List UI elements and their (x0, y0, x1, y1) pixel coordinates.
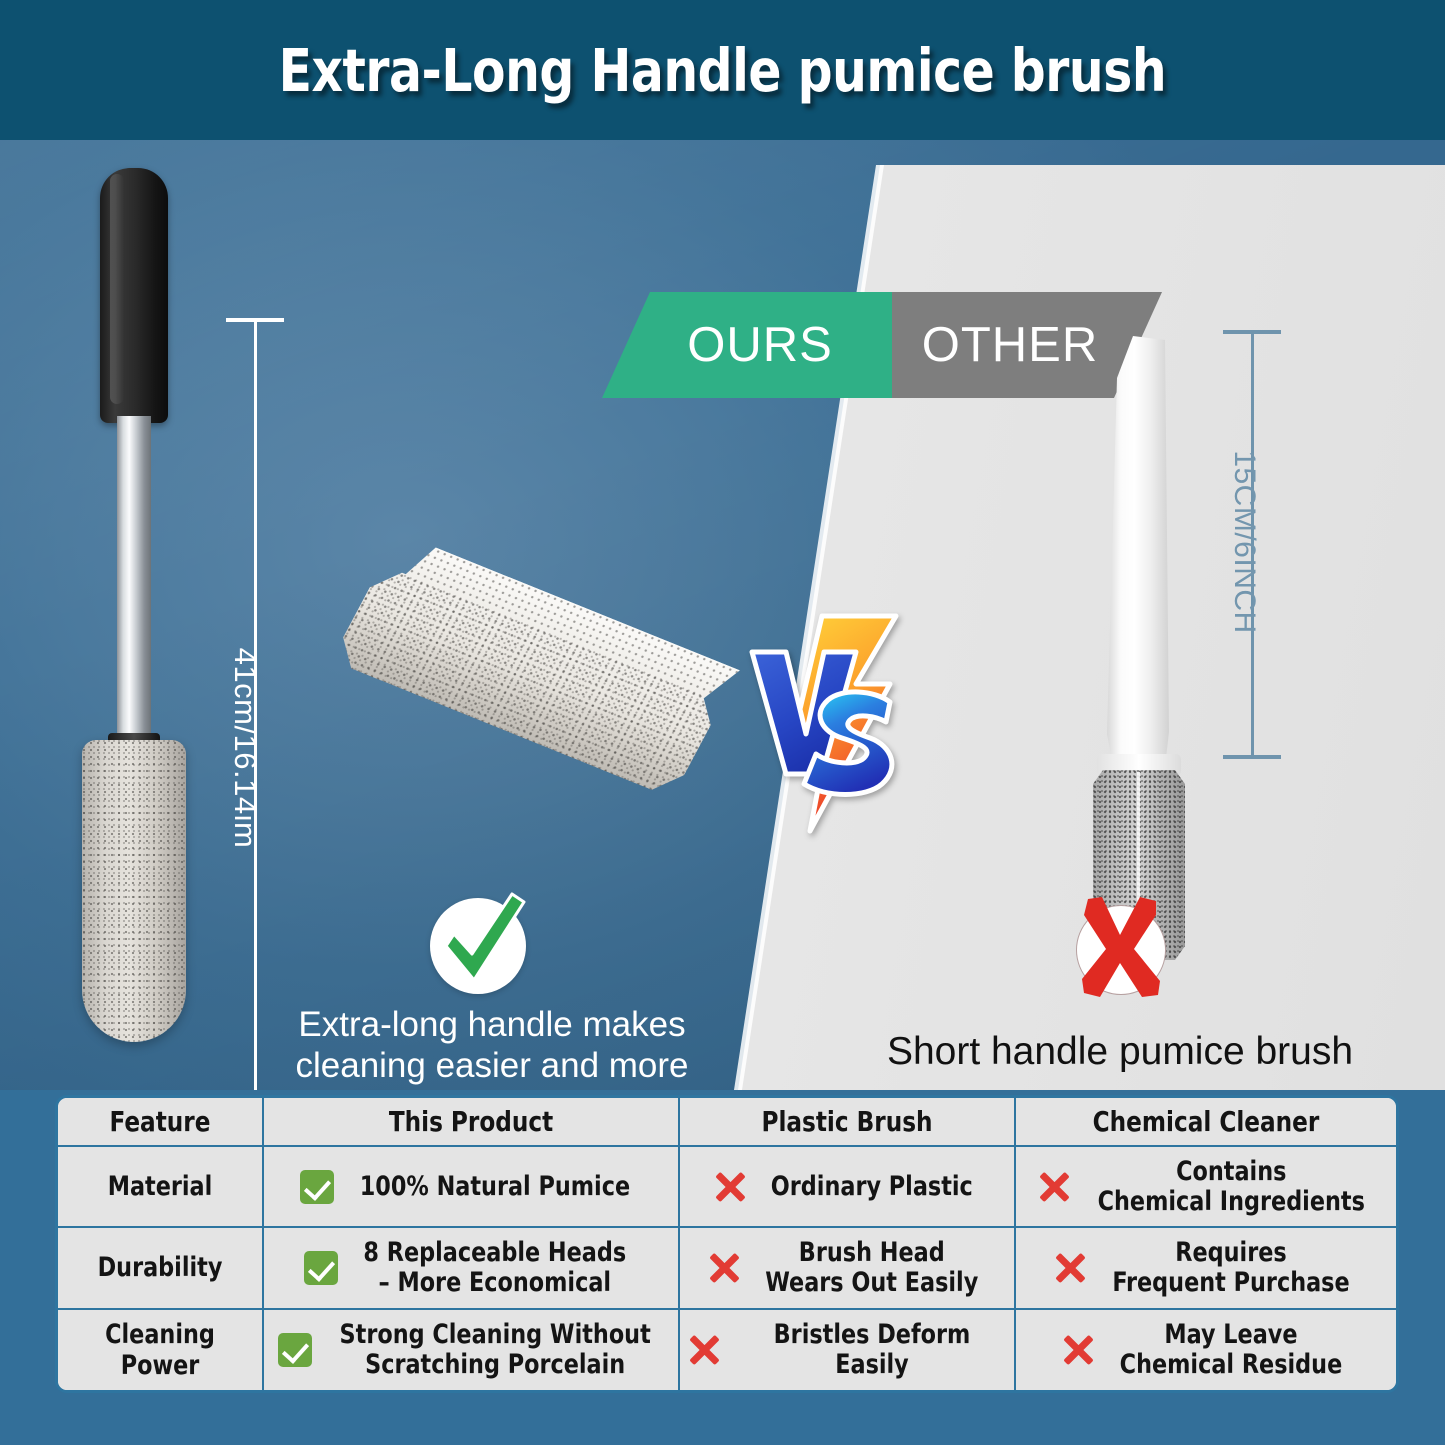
table-row: Durability 8 Replaceable Heads – More Ec… (58, 1228, 1396, 1309)
bottom-strip (0, 1393, 1445, 1445)
right-caption: Short handle pumice brush (830, 1030, 1410, 1074)
cell-text: 100% Natural Pumice (360, 1172, 630, 1202)
comparison-stage: OURS OTHER 41cm/16.14im (0, 140, 1445, 1090)
cell-feature: Durability (58, 1228, 264, 1309)
infographic-page: Extra-Long Handle pumice brush OURS OTHE… (0, 0, 1445, 1445)
cell-text: Strong Cleaning Without Scratching Porce… (339, 1320, 650, 1380)
header-cell-plastic-brush: Plastic Brush (680, 1098, 1016, 1147)
feature-label: Durability (72, 1252, 249, 1283)
cell-this-product: Strong Cleaning Without Scratching Porce… (264, 1310, 680, 1391)
brush-rubber-grip (100, 168, 168, 423)
cell-text: Ordinary Plastic (771, 1172, 973, 1202)
comparison-table: Feature This Product Plastic Brush Chemi… (55, 1095, 1393, 1393)
x-icon (1060, 1332, 1096, 1368)
feature-label: Material (72, 1171, 249, 1202)
banner-ours-label: OURS (661, 317, 833, 373)
header-label-plastic-brush: Plastic Brush (699, 1105, 995, 1138)
table-header-row: Feature This Product Plastic Brush Chemi… (58, 1098, 1396, 1147)
cell-chemical-cleaner: May Leave Chemical Residue (1016, 1310, 1396, 1391)
header-banner: Extra-Long Handle pumice brush (0, 0, 1445, 140)
cell-text: Bristles Deform Easily (747, 1320, 997, 1380)
right-dimension-line: 15CM/6INCH (1205, 325, 1277, 765)
feature-label: Cleaning Power (72, 1319, 249, 1381)
brush-steel-shaft (117, 416, 151, 746)
header-cell-chemical-cleaner: Chemical Cleaner (1016, 1098, 1396, 1147)
cell-plastic-brush: Bristles Deform Easily (680, 1310, 1016, 1391)
header-label-chemical-cleaner: Chemical Cleaner (1037, 1105, 1376, 1138)
cell-text: Requires Frequent Purchase (1112, 1238, 1349, 1298)
cell-this-product: 8 Replaceable Heads – More Economical (264, 1228, 680, 1309)
table-row: Cleaning Power Strong Cleaning Without S… (58, 1310, 1396, 1391)
cell-feature: Material (58, 1147, 264, 1228)
brush-pumice-head (82, 740, 186, 1042)
long-handle-brush-image (78, 168, 208, 1048)
header-label-feature: Feature (72, 1105, 249, 1138)
check-icon (300, 1170, 334, 1204)
header-cell-this-product: This Product (264, 1098, 680, 1147)
left-dimension-line: 41cm/16.14im (210, 310, 278, 1090)
table-row: Material 100% Natural Pumice Ordinary Pl… (58, 1147, 1396, 1228)
header-cell-feature: Feature (58, 1098, 264, 1147)
green-check-icon (424, 888, 534, 998)
cell-text: May Leave Chemical Residue (1120, 1320, 1343, 1380)
left-caption: Extra-long handle makes cleaning easier … (282, 1005, 702, 1090)
x-icon (686, 1332, 722, 1368)
red-x-icon (1060, 895, 1180, 1005)
cell-feature: Cleaning Power (58, 1310, 264, 1391)
x-icon (706, 1250, 742, 1286)
cell-plastic-brush: Brush Head Wears Out Easily (680, 1228, 1016, 1309)
x-icon (1036, 1169, 1072, 1205)
pumice-stick-body (276, 480, 775, 891)
short-brush-handle (1107, 336, 1169, 766)
cell-text: 8 Replaceable Heads – More Economical (364, 1238, 627, 1298)
cell-chemical-cleaner: Requires Frequent Purchase (1016, 1228, 1396, 1309)
x-icon (1052, 1250, 1088, 1286)
left-dimension-label: 41cm/16.14im (227, 578, 263, 918)
x-icon (712, 1169, 748, 1205)
pumice-stick-image (333, 535, 718, 835)
header-label-this-product: This Product (286, 1105, 656, 1138)
check-icon (304, 1251, 338, 1285)
cell-text: Contains Chemical Ingredients (1097, 1157, 1364, 1217)
short-handle-brush-image (1073, 336, 1203, 926)
right-dimension-label: 15CM/6INCH (1227, 382, 1261, 702)
vs-lightning-icon (744, 606, 919, 841)
check-icon (278, 1333, 312, 1367)
page-title: Extra-Long Handle pumice brush (279, 36, 1167, 105)
dimension-cap-bottom (1223, 755, 1281, 759)
cell-chemical-cleaner: Contains Chemical Ingredients (1016, 1147, 1396, 1228)
cell-plastic-brush: Ordinary Plastic (680, 1147, 1016, 1228)
cell-text: Brush Head Wears Out Easily (765, 1238, 978, 1298)
cell-this-product: 100% Natural Pumice (264, 1147, 680, 1228)
banner-ours: OURS (602, 292, 892, 398)
